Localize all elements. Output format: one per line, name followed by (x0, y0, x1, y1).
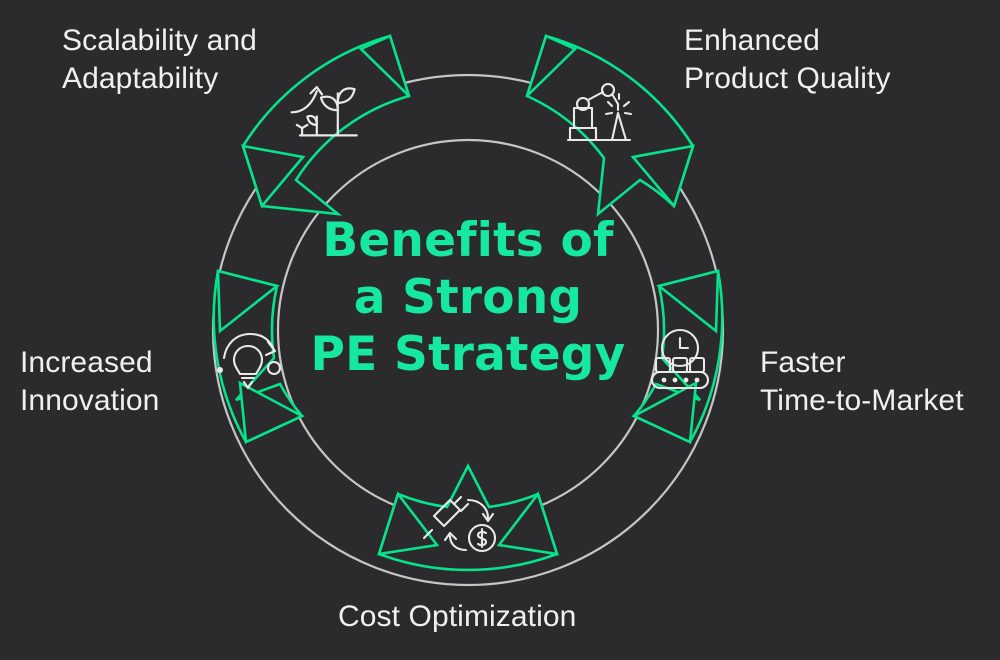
segment-scalability[interactable] (243, 36, 409, 214)
segment-label-innovation: Increased Innovation (20, 344, 159, 420)
segment-label-quality: Enhanced Product Quality (684, 22, 891, 98)
segment-label-scalability: Scalability and Adaptability (62, 22, 257, 98)
center-title: Benefits of a Strong PE Strategy (272, 212, 664, 383)
center-title-line-1: Benefits of (272, 212, 664, 269)
infographic-canvas: Benefits of a Strong PE Strategy Scalabi… (0, 0, 1000, 660)
center-title-line-2: a Strong (272, 269, 664, 326)
segment-quality[interactable] (527, 36, 693, 214)
segment-cost[interactable] (379, 466, 557, 570)
center-title-line-3: PE Strategy (272, 326, 664, 383)
segment-label-faster: Faster Time-to-Market (760, 344, 964, 420)
segment-label-cost: Cost Optimization (338, 598, 576, 636)
